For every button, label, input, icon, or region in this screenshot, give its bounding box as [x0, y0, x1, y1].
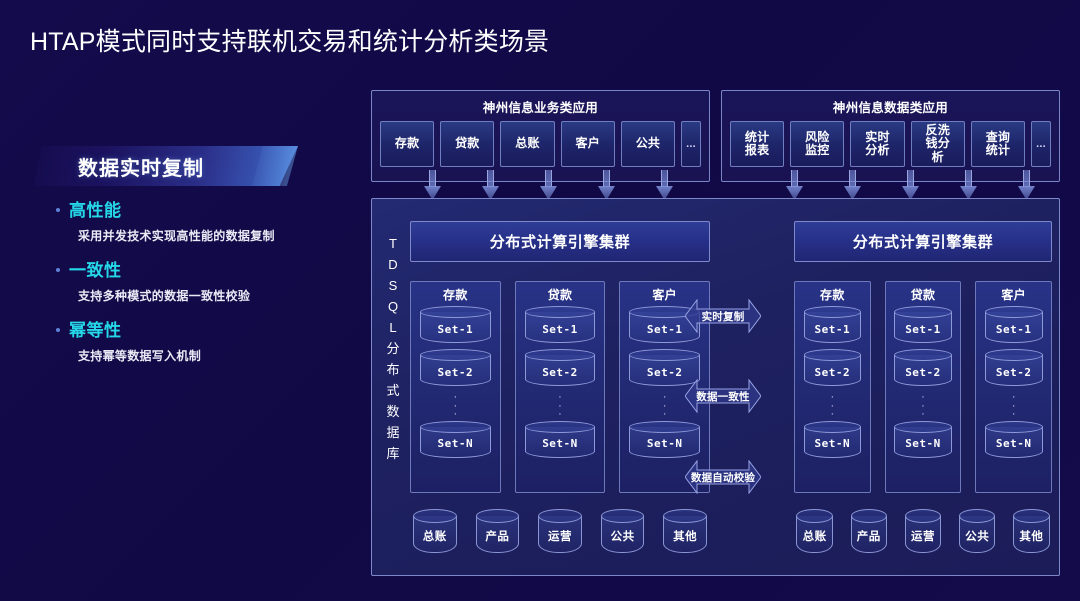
- app-chip-query-statistics[interactable]: 查询 统计: [971, 121, 1025, 167]
- set-cylinder: Set-N: [892, 421, 955, 461]
- ellipsis-dots: ···: [831, 393, 835, 419]
- down-arrow-icon: [844, 170, 861, 200]
- tdsql-half-olap: 分布式计算引擎集群 存款 Set-1 Set-2 ··· Set-N 贷款 Se…: [794, 199, 1052, 575]
- tdsql-char: S: [389, 275, 398, 296]
- bullet-dot-icon: [56, 208, 60, 212]
- set-label: Set-N: [892, 421, 955, 461]
- set-cylinder: Set-N: [982, 421, 1045, 461]
- set-column-title: 客户: [1001, 286, 1026, 303]
- app-chip-customer[interactable]: 客户: [561, 121, 615, 167]
- bottom-cylinder-product: 产品: [848, 509, 889, 555]
- app-chip-anti-money-laundering[interactable]: 反洗 钱分 析: [911, 121, 965, 167]
- feature-description: 采用并发技术实现高性能的数据复制: [78, 227, 356, 244]
- set-cylinder: Set-2: [892, 349, 955, 389]
- set-column-deposit: 存款 Set-1 Set-2 ··· Set-N: [410, 281, 501, 493]
- feature-title: 一致性: [69, 256, 122, 281]
- bottom-cylinder-label: 产品: [848, 509, 889, 555]
- set-cylinder: Set-1: [801, 306, 864, 346]
- set-label: Set-1: [417, 306, 494, 346]
- bottom-cylinder-label: 公共: [957, 509, 998, 555]
- bottom-cylinder-label: 运营: [902, 509, 943, 555]
- tdsql-half-oltp: 分布式计算引擎集群 存款 Set-1 Set-2 ··· Set-N 贷款 Se…: [410, 199, 710, 575]
- set-column-title: 存款: [820, 286, 845, 303]
- feature-title: 幂等性: [69, 316, 122, 341]
- bottom-cylinder-label: 公共: [598, 509, 648, 555]
- set-label: Set-1: [801, 306, 864, 346]
- set-label: Set-N: [522, 421, 599, 461]
- set-label: Set-1: [982, 306, 1045, 346]
- bottom-cylinder-other: 其他: [1011, 509, 1052, 555]
- bidirectional-arrow-auto-verification: 数据自动校验: [685, 460, 761, 494]
- set-cylinder: Set-2: [417, 349, 494, 389]
- set-label: Set-N: [417, 421, 494, 461]
- bottom-cylinder-row-left: 总账 产品 运营 公共 其他: [410, 509, 710, 555]
- down-arrow-icon: [960, 170, 977, 200]
- set-label: Set-N: [982, 421, 1045, 461]
- set-cylinder: Set-N: [522, 421, 599, 461]
- bottom-cylinder-operations: 运营: [902, 509, 943, 555]
- bottom-cylinder-other: 其他: [660, 509, 710, 555]
- feature-item-0: 高性能 采用并发技术实现高性能的数据复制: [56, 196, 356, 244]
- tdsql-vertical-label: T D S Q L 分 布 式 数 据 库: [381, 233, 405, 465]
- ellipsis-dots: ···: [558, 393, 562, 419]
- app-group-title: 神州信息数据类应用: [722, 91, 1059, 116]
- set-column-loan: 贷款 Set-1 Set-2 ··· Set-N: [515, 281, 606, 493]
- app-chip-statistics-report[interactable]: 统计 报表: [730, 121, 784, 167]
- bottom-cylinder-product: 产品: [473, 509, 523, 555]
- set-label: Set-1: [522, 306, 599, 346]
- set-label: Set-2: [522, 349, 599, 389]
- set-cylinder: Set-2: [982, 349, 1045, 389]
- tdsql-char: 式: [386, 380, 399, 401]
- app-chip-ledger[interactable]: 总账: [500, 121, 554, 167]
- tdsql-char: D: [388, 254, 397, 275]
- bidirectional-arrow-data-consistency: 数据一致性: [685, 379, 761, 413]
- tdsql-char: L: [389, 317, 396, 338]
- down-arrow-icon: [540, 170, 557, 200]
- set-column-group-right: 存款 Set-1 Set-2 ··· Set-N 贷款 Set-1 Set-2 …: [794, 281, 1052, 493]
- set-label: Set-2: [417, 349, 494, 389]
- set-label: Set-2: [892, 349, 955, 389]
- app-chip-risk-monitor[interactable]: 风险 监控: [790, 121, 844, 167]
- bottom-cylinder-operations: 运营: [535, 509, 585, 555]
- app-chip-deposit[interactable]: 存款: [380, 121, 434, 167]
- set-cylinder: Set-N: [626, 421, 703, 461]
- app-chip-row: 存款 贷款 总账 客户 公共 ...: [372, 116, 709, 175]
- bottom-cylinder-ledger: 总账: [410, 509, 460, 555]
- set-column-title: 存款: [443, 286, 468, 303]
- section-ribbon: 数据实时复制: [34, 146, 298, 186]
- down-arrow-icon: [656, 170, 673, 200]
- tdsql-char: 分: [386, 338, 399, 359]
- bottom-cylinder-label: 其他: [660, 509, 710, 555]
- tdsql-char: T: [389, 233, 397, 254]
- app-group-title: 神州信息业务类应用: [372, 91, 709, 116]
- ellipsis-dots: ···: [663, 393, 667, 419]
- set-cylinder: Set-2: [801, 349, 864, 389]
- set-label: Set-2: [982, 349, 1045, 389]
- bottom-cylinder-label: 产品: [473, 509, 523, 555]
- app-chip-public[interactable]: 公共: [621, 121, 675, 167]
- ribbon-label: 数据实时复制: [78, 146, 204, 186]
- set-column-title: 贷款: [548, 286, 573, 303]
- feature-description: 支持幂等数据写入机制: [78, 347, 356, 364]
- feature-title: 高性能: [69, 196, 122, 221]
- ellipsis-dots: ···: [921, 393, 925, 419]
- arrow-label: 实时复制: [685, 299, 761, 333]
- arrow-label: 数据一致性: [685, 379, 761, 413]
- set-column-group-left: 存款 Set-1 Set-2 ··· Set-N 贷款 Set-1 Set-2 …: [410, 281, 710, 493]
- set-column-customer: 客户 Set-1 Set-2 ··· Set-N: [975, 281, 1052, 493]
- down-arrow-icon: [424, 170, 441, 200]
- feature-item-2: 幂等性 支持幂等数据写入机制: [56, 316, 356, 364]
- set-cylinder: Set-N: [801, 421, 864, 461]
- down-arrow-icon: [786, 170, 803, 200]
- bottom-cylinder-label: 其他: [1011, 509, 1052, 555]
- set-cylinder: Set-1: [522, 306, 599, 346]
- set-label: Set-1: [892, 306, 955, 346]
- bottom-cylinder-label: 总账: [794, 509, 835, 555]
- bottom-cylinder-label: 总账: [410, 509, 460, 555]
- ellipsis-dots: ···: [1012, 393, 1016, 419]
- set-column-deposit: 存款 Set-1 Set-2 ··· Set-N: [794, 281, 871, 493]
- bottom-cylinder-row-right: 总账 产品 运营 公共 其他: [794, 509, 1052, 555]
- set-cylinder: Set-2: [522, 349, 599, 389]
- bottom-cylinder-ledger: 总账: [794, 509, 835, 555]
- app-chip-more[interactable]: ...: [1031, 121, 1051, 167]
- down-arrow-icon: [902, 170, 919, 200]
- compute-engine-cluster-right: 分布式计算引擎集群: [794, 221, 1052, 262]
- app-chip-loan[interactable]: 贷款: [440, 121, 494, 167]
- slide-canvas: HTAP模式同时支持联机交易和统计分析类场景 数据实时复制 高性能 采用并发技术…: [0, 0, 1080, 601]
- set-label: Set-N: [626, 421, 703, 461]
- app-chip-more[interactable]: ...: [681, 121, 701, 167]
- ellipsis-dots: ···: [454, 393, 458, 419]
- tdsql-char: 数: [386, 401, 399, 422]
- app-group-business: 神州信息业务类应用 存款 贷款 总账 客户 公共 ...: [371, 90, 710, 182]
- set-column-title: 贷款: [911, 286, 936, 303]
- feature-description: 支持多种模式的数据一致性校验: [78, 287, 356, 304]
- tdsql-panel: T D S Q L 分 布 式 数 据 库 分布式计算引擎集群 存款 Set-1…: [371, 198, 1060, 576]
- bottom-cylinder-public: 公共: [598, 509, 648, 555]
- set-cylinder: Set-N: [417, 421, 494, 461]
- app-group-data: 神州信息数据类应用 统计 报表 风险 监控 实时 分析 反洗 钱分 析 查询 统…: [721, 90, 1060, 182]
- tdsql-char: Q: [388, 296, 398, 317]
- arrow-label: 数据自动校验: [685, 460, 761, 494]
- feature-heading: 高性能: [56, 196, 356, 221]
- app-chip-realtime-analysis[interactable]: 实时 分析: [850, 121, 904, 167]
- feature-heading: 一致性: [56, 256, 356, 281]
- set-cylinder: Set-1: [892, 306, 955, 346]
- set-column-loan: 贷款 Set-1 Set-2 ··· Set-N: [885, 281, 962, 493]
- compute-engine-cluster-left: 分布式计算引擎集群: [410, 221, 710, 262]
- bullet-dot-icon: [56, 268, 60, 272]
- bottom-cylinder-label: 运营: [535, 509, 585, 555]
- set-cylinder: Set-1: [417, 306, 494, 346]
- feature-heading: 幂等性: [56, 316, 356, 341]
- tdsql-char: 布: [386, 359, 399, 380]
- down-arrow-icon: [482, 170, 499, 200]
- tdsql-char: 库: [386, 443, 399, 464]
- set-cylinder: Set-1: [982, 306, 1045, 346]
- down-arrow-icon: [598, 170, 615, 200]
- feature-item-1: 一致性 支持多种模式的数据一致性校验: [56, 256, 356, 304]
- app-chip-row: 统计 报表 风险 监控 实时 分析 反洗 钱分 析 查询 统计 ...: [722, 116, 1059, 175]
- feature-list: 高性能 采用并发技术实现高性能的数据复制 一致性 支持多种模式的数据一致性校验 …: [56, 196, 356, 376]
- bottom-cylinder-public: 公共: [957, 509, 998, 555]
- tdsql-char: 据: [386, 422, 399, 443]
- down-arrow-icon: [1018, 170, 1035, 200]
- set-label: Set-N: [801, 421, 864, 461]
- page-title: HTAP模式同时支持联机交易和统计分析类场景: [30, 22, 549, 58]
- set-label: Set-2: [801, 349, 864, 389]
- bullet-dot-icon: [56, 328, 60, 332]
- set-column-title: 客户: [652, 286, 677, 303]
- bidirectional-arrow-realtime-replication: 实时复制: [685, 299, 761, 333]
